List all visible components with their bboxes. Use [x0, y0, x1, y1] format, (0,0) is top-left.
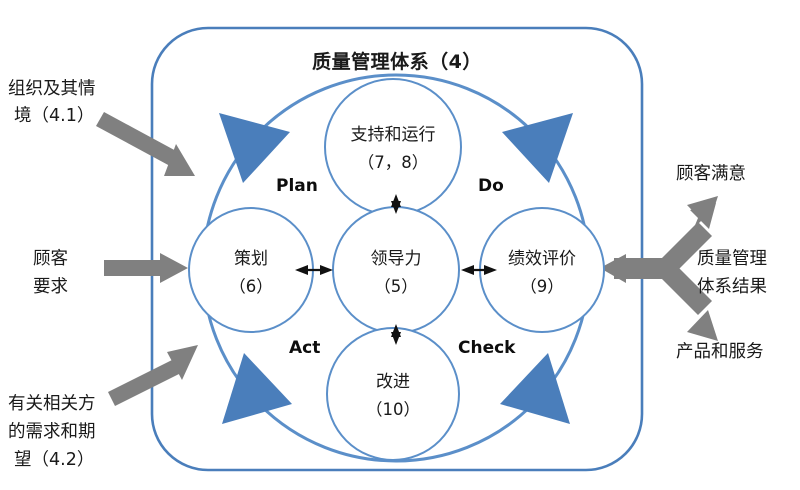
- input-label-customer-requirements-line1: 顾客: [33, 248, 113, 271]
- pdca-label-act: Act: [289, 337, 320, 359]
- page-title: 质量管理体系（4）: [252, 50, 542, 75]
- node-code-planning: （6）: [186, 276, 316, 297]
- pdca-label-plan: Plan: [276, 175, 318, 197]
- input-label-context-line1: 组织及其情: [8, 78, 138, 101]
- output-label-qms-results-line1: 质量管理: [697, 248, 800, 271]
- node-improvement[interactable]: 改进 （10）: [328, 371, 458, 415]
- cycle-arrowhead-check: [500, 353, 570, 424]
- node-planning[interactable]: 策划 （6）: [186, 248, 316, 292]
- pdca-label-check: Check: [458, 337, 516, 359]
- node-label-support-operation: 支持和运行: [323, 124, 463, 146]
- node-leadership[interactable]: 领导力 （5）: [331, 248, 461, 292]
- input-arrow-customer-requirements: [104, 253, 188, 283]
- diagram-canvas: 质量管理体系（4） 组织及其情 境（4.1） 顾客 要求 有关相关方 的需求和期…: [0, 0, 800, 490]
- output-label-products-services: 产品和服务: [676, 341, 800, 364]
- input-label-customer-requirements-line2: 要求: [33, 276, 113, 299]
- node-performance-evaluation[interactable]: 绩效评价 （9）: [477, 248, 607, 292]
- input-label-interested-parties-line3: 望（4.2）: [14, 449, 154, 472]
- node-code-leadership: （5）: [331, 276, 461, 297]
- input-label-context-line2: 境（4.1）: [14, 105, 154, 128]
- input-label-interested-parties-line1: 有关相关方: [8, 393, 148, 416]
- node-code-performance-evaluation: （9）: [477, 276, 607, 297]
- node-code-improvement: （10）: [328, 399, 458, 420]
- node-code-support-operation: （7，8）: [323, 152, 463, 173]
- input-label-interested-parties-line2: 的需求和期: [8, 421, 148, 444]
- node-label-planning: 策划: [186, 248, 316, 270]
- cycle-arrowhead-act: [222, 353, 292, 424]
- output-label-qms-results-line2: 体系结果: [697, 276, 800, 299]
- node-support-operation[interactable]: 支持和运行 （7，8）: [323, 124, 463, 168]
- pdca-label-do: Do: [478, 175, 504, 197]
- node-label-improvement: 改进: [328, 371, 458, 393]
- node-label-performance-evaluation: 绩效评价: [477, 248, 607, 270]
- output-label-customer-satisfaction: 顾客满意: [676, 163, 796, 186]
- node-label-leadership: 领导力: [331, 248, 461, 270]
